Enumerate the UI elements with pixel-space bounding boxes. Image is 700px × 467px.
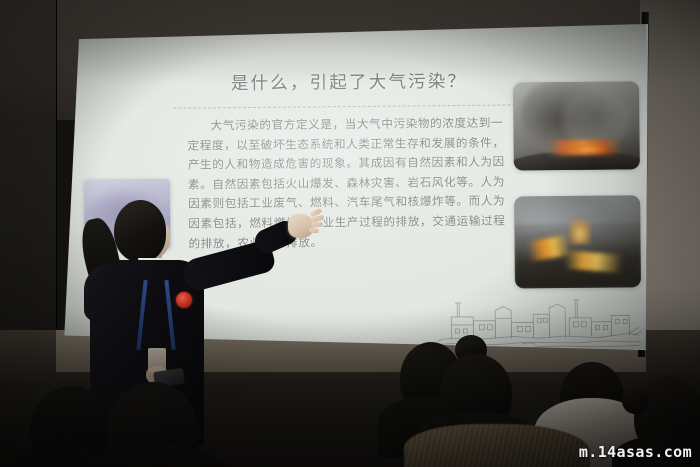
presenter-finger-4 [309, 227, 319, 233]
lecture-photo: 是什么，引起了大气污染？ 大气污染的官方定义是，当大气中污染物的浓度达到一定程度… [0, 0, 700, 467]
volcano-lava-core [572, 145, 605, 154]
presenter-finger-3 [311, 222, 323, 228]
presenter-red-badge-pin [176, 292, 192, 308]
slide-image-volcano-eruption [513, 81, 640, 170]
classroom-wall-right [640, 0, 700, 380]
fire-flame-center [570, 220, 590, 244]
slide-image-forest-fire [514, 195, 641, 288]
presenter-hair [114, 200, 166, 262]
slide-body-text: 大气污染的官方定义是，当大气中污染物的浓度达到一定程度，以至破坏生态系统和人类正… [187, 114, 510, 254]
slide-divider [173, 104, 525, 108]
slide-title: 是什么，引起了大气污染？ [179, 67, 519, 95]
audience-right-hair-tie [622, 388, 648, 414]
audience-fur-collar-coat [404, 424, 590, 467]
slide-body-paragraph: 大气污染的官方定义是，当大气中污染物的浓度达到一定程度，以至破坏生态系统和人类正… [187, 114, 510, 254]
watermark: m.14asas.com [579, 443, 692, 461]
fur-texture [404, 424, 590, 467]
